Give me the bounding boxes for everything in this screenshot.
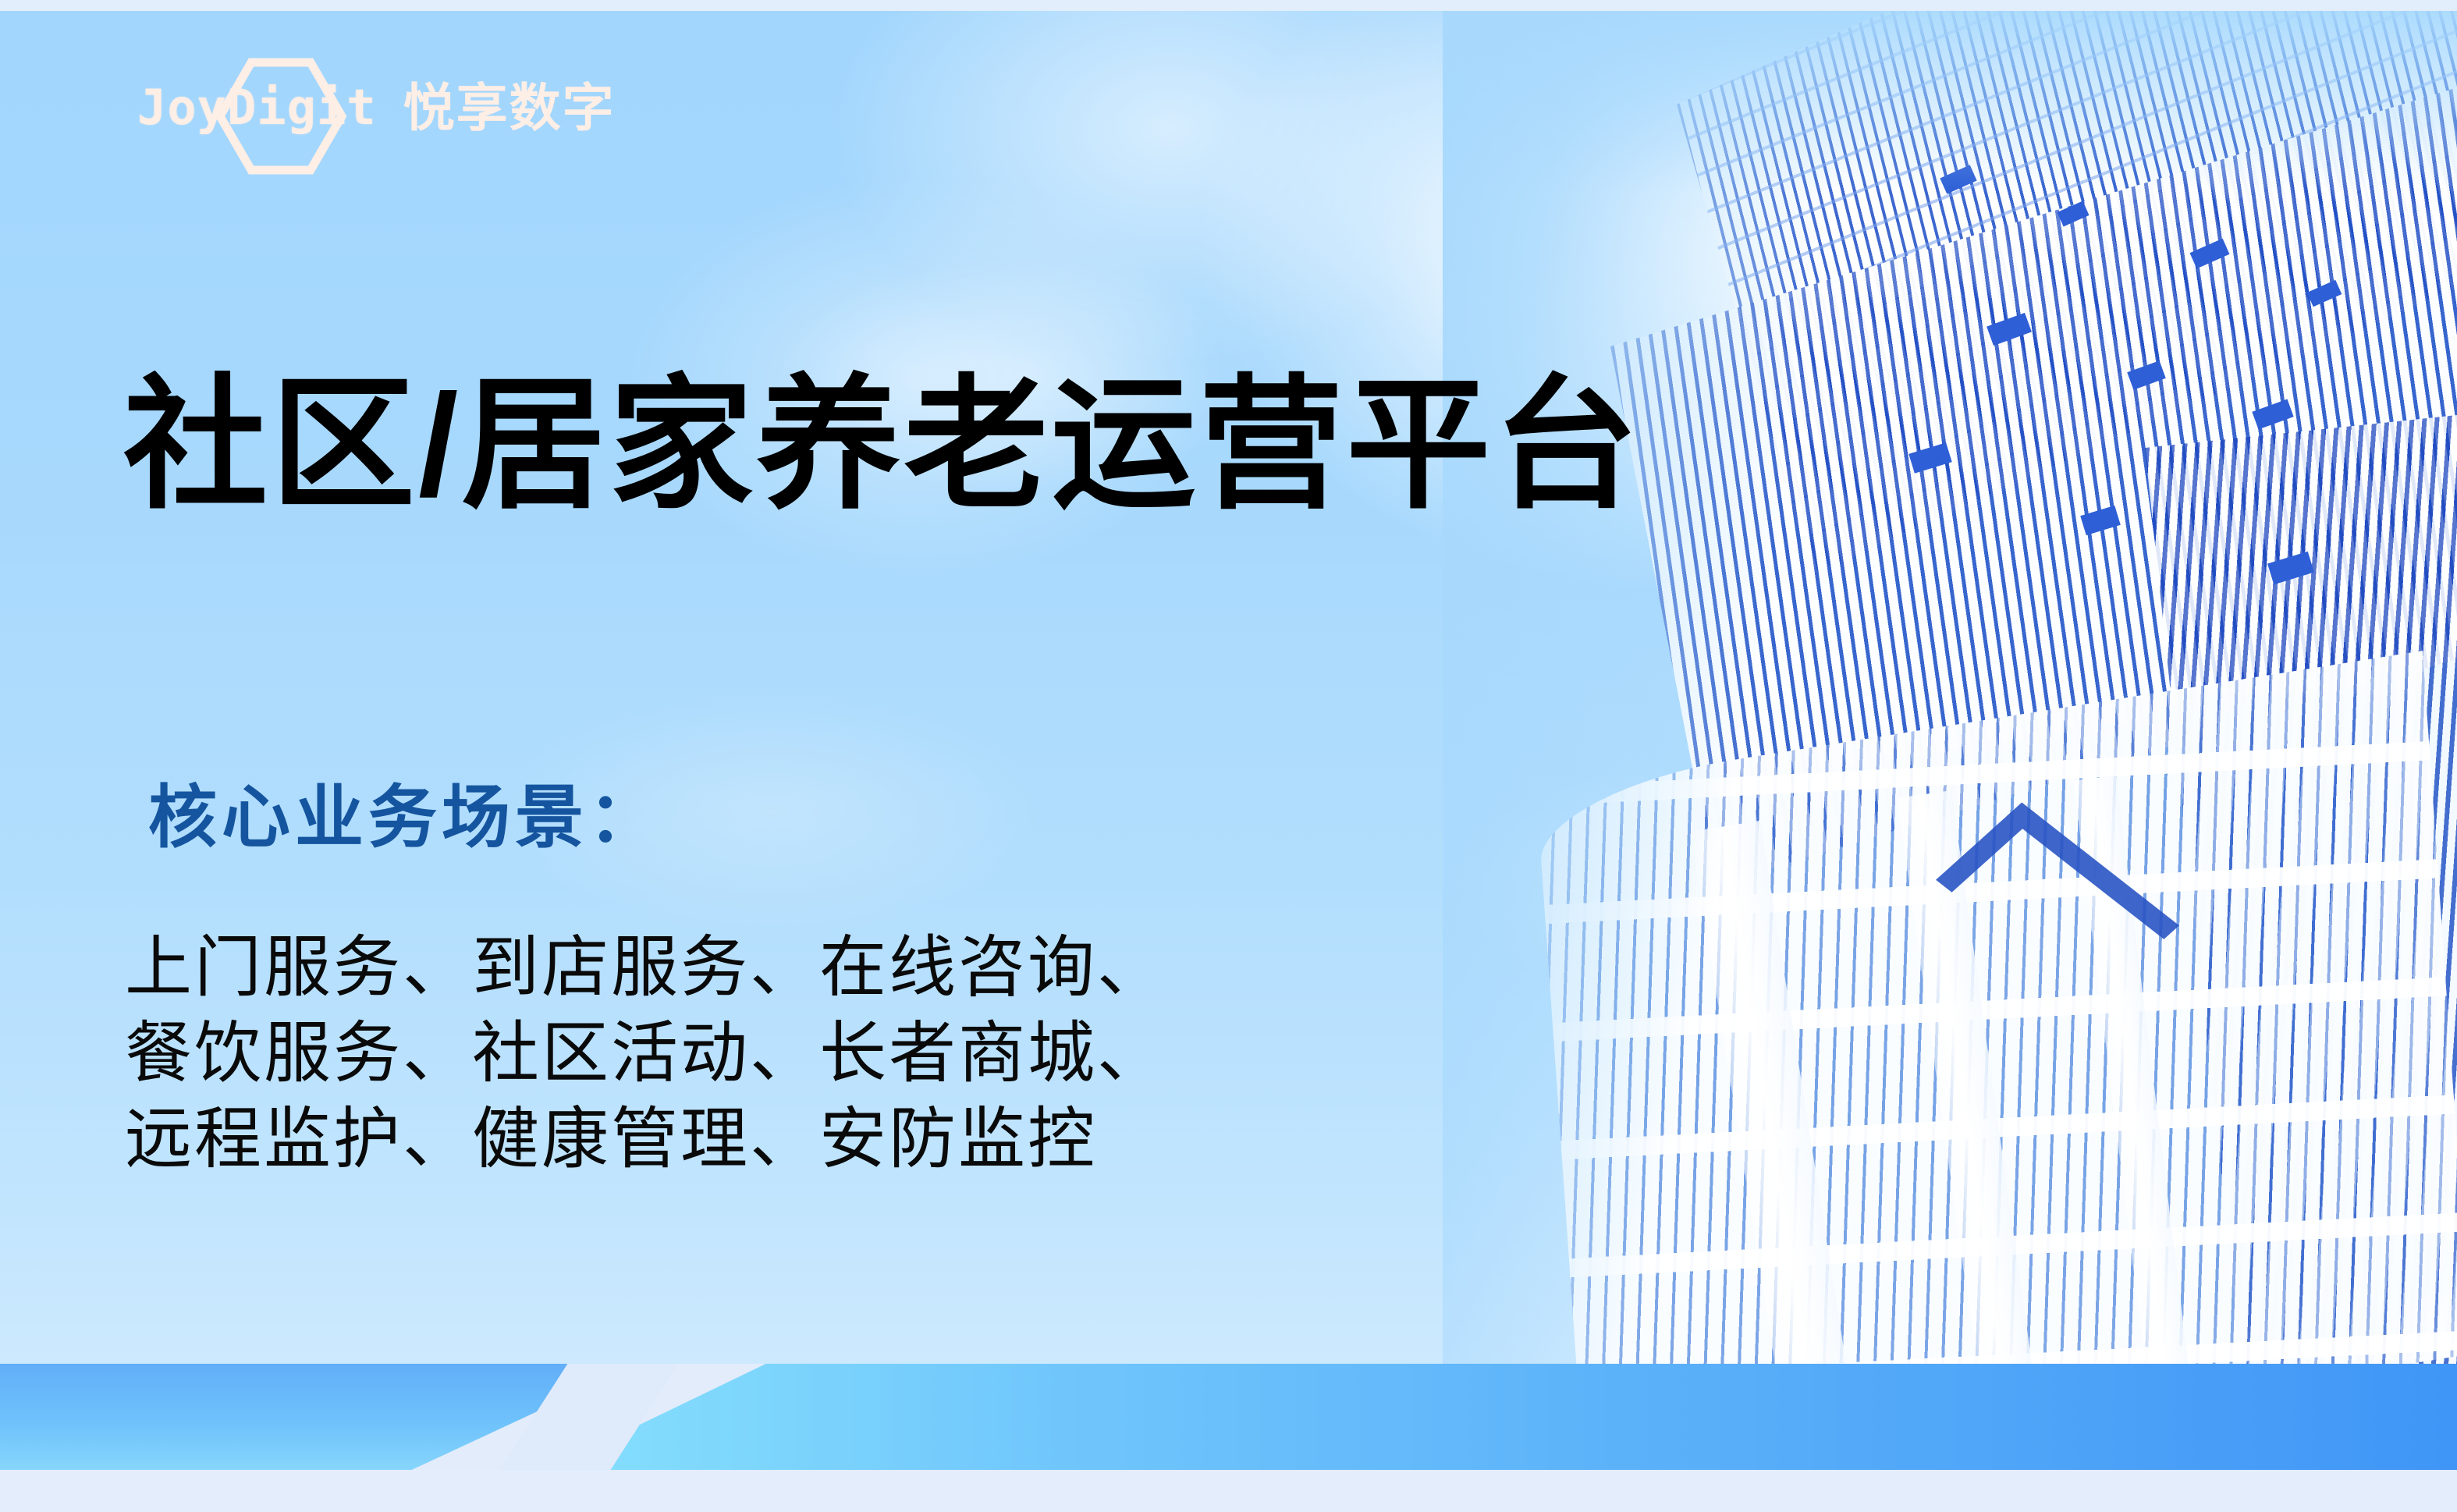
slide-root: JoyDigit 悦享数字 社区/居家养老运营平台 核心业务场景： 上门服务、到…	[0, 0, 2457, 1512]
photo-top-haze	[1443, 11, 2457, 1411]
bottom-decorative-band	[0, 1364, 2457, 1512]
logo-wordmark-chinese: 悦享数字	[403, 82, 616, 133]
page-title: 社区/居家养老运营平台	[123, 360, 1641, 531]
band-right-parallelogram	[546, 1364, 2457, 1470]
top-edge-strip	[0, 0, 2457, 11]
scenario-list: 上门服务、到店服务、在线咨询、 餐饮服务、社区活动、长者商城、 远程监护、健康管…	[125, 925, 1166, 1182]
band-base-strip	[0, 1470, 2457, 1512]
scenario-line: 上门服务、到店服务、在线咨询、	[125, 925, 1166, 1010]
logo-wordmark-latin: JoyDigit	[137, 83, 377, 132]
scenario-line: 餐饮服务、社区活动、长者商城、	[125, 1010, 1166, 1096]
scenario-line: 远程监护、健康管理、安防监控	[125, 1096, 1166, 1182]
skyscraper-photo	[1443, 11, 2457, 1411]
brand-logo: JoyDigit 悦享数字	[137, 61, 616, 154]
section-heading: 核心业务场景：	[148, 780, 662, 856]
